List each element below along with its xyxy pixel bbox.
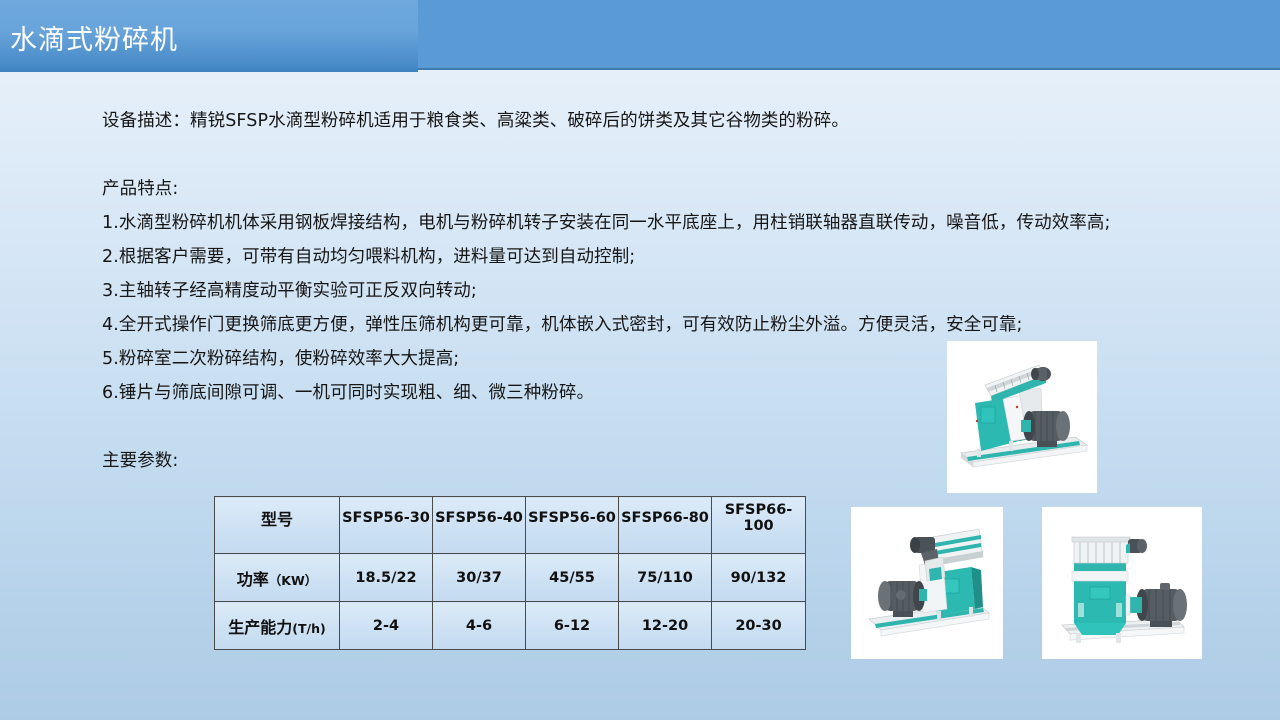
table-row-power: 功率（KW） 18.5/22 30/37 45/55 75/110 90/132 xyxy=(215,554,806,602)
table-cell-power-3: 45/55 xyxy=(526,554,619,602)
table-cell-capacity-5: 20-30 xyxy=(712,602,806,650)
hammer-mill-illustration-top xyxy=(947,341,1097,493)
table-cell-power-5: 90/132 xyxy=(712,554,806,602)
table-cell-capacity-2: 4-6 xyxy=(433,602,526,650)
feature-item-1: 1.水滴型粉碎机机体采用钢板焊接结构，电机与粉碎机转子安装在同一水平底座上，用柱… xyxy=(102,206,1192,240)
table-row-models: 型号 SFSP56-30 SFSP56-40 SFSP56-60 SFSP66-… xyxy=(215,497,806,554)
table-cell-capacity-4: 12-20 xyxy=(619,602,712,650)
table-cell-model-1: SFSP56-30 xyxy=(340,497,433,554)
feature-item-2: 2.根据客户需要，可带有自动均匀喂料机构，进料量可达到自动控制; xyxy=(102,240,1192,274)
table-cell-model-3: SFSP56-60 xyxy=(526,497,619,554)
slide-title-bar: 水滴式粉碎机 xyxy=(0,0,1280,72)
table-header-capacity-unit: (T/h) xyxy=(292,621,325,636)
table-cell-power-4: 75/110 xyxy=(619,554,712,602)
table-row-capacity: 生产能力(T/h) 2-4 4-6 6-12 12-20 20-30 xyxy=(215,602,806,650)
table-cell-power-1: 18.5/22 xyxy=(340,554,433,602)
page-title: 水滴式粉碎机 xyxy=(10,18,178,57)
hammer-mill-photo-left xyxy=(851,507,1003,659)
table-header-power-label: 功率 xyxy=(237,570,269,589)
table-cell-capacity-3: 6-12 xyxy=(526,602,619,650)
text-spacer xyxy=(102,138,1192,172)
title-bar-right-band xyxy=(415,0,1280,70)
hammer-mill-illustration-right xyxy=(1042,507,1202,659)
table-cell-model-2: SFSP56-40 xyxy=(433,497,526,554)
table-header-power-unit: （KW） xyxy=(269,573,317,588)
feature-item-3: 3.主轴转子经高精度动平衡实验可正反双向转动; xyxy=(102,274,1192,308)
table-cell-capacity-1: 2-4 xyxy=(340,602,433,650)
features-heading: 产品特点: xyxy=(102,172,1192,206)
table-header-capacity-label: 生产能力 xyxy=(228,618,292,637)
hammer-mill-photo-right xyxy=(1042,507,1202,659)
table-cell-model-5: SFSP66-100 xyxy=(712,497,806,554)
table-cell-power-2: 30/37 xyxy=(433,554,526,602)
table-header-capacity: 生产能力(T/h) xyxy=(215,602,340,650)
hammer-mill-illustration-left xyxy=(851,507,1003,659)
specifications-table: 型号 SFSP56-30 SFSP56-40 SFSP56-60 SFSP66-… xyxy=(214,496,806,650)
table-header-power: 功率（KW） xyxy=(215,554,340,602)
table-header-model: 型号 xyxy=(215,497,340,554)
table-cell-model-4: SFSP66-80 xyxy=(619,497,712,554)
equipment-description: 设备描述：精锐SFSP水滴型粉碎机适用于粮食类、高粱类、破碎后的饼类及其它谷物类… xyxy=(102,104,1192,138)
table-header-model-label: 型号 xyxy=(261,510,293,529)
feature-item-4: 4.全开式操作门更换筛底更方便，弹性压筛机构更可靠，机体嵌入式密封，可有效防止粉… xyxy=(102,308,1192,342)
hammer-mill-photo-top xyxy=(947,341,1097,493)
